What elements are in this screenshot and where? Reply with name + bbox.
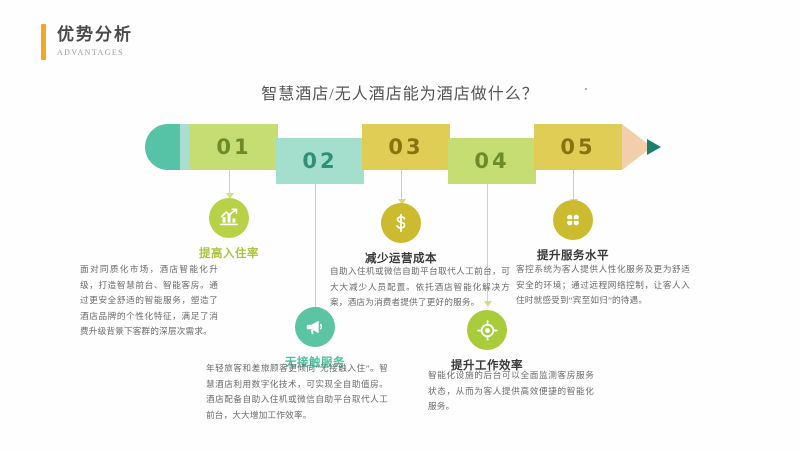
banner-number-01: 01 — [216, 135, 251, 159]
feature-body-contactless: 年轻旅客和差旅顾客更倾向“无接触入住”。智慧酒店利用数字化技术，可实现全自助值房… — [206, 361, 388, 423]
banner-segment-05[interactable]: 05 — [534, 124, 622, 170]
growth-chart-icon — [209, 198, 249, 238]
page-title: 智慧酒店/无人酒店能为酒店做什么？ — [0, 80, 800, 104]
header-accent-bar — [41, 24, 46, 60]
banner-segment-04[interactable]: 04 — [448, 138, 536, 184]
feature-label-service: 提升服务水平 — [530, 247, 616, 263]
banner-number-05: 05 — [560, 135, 595, 159]
feature-body-occupancy: 面对同质化市场，酒店智能化升级，打造智慧前台、智能客房。通过更安全舒适的智能服务… — [80, 262, 218, 340]
feature-body-service: 客控系统为客人提供人性化服务及更为舒适安全的环境；通过远程网络控制，让客人入住时… — [516, 262, 690, 309]
header-text-group: 优势分析 ADVANTAGES — [57, 24, 133, 57]
section-header: 优势分析 ADVANTAGES — [41, 24, 133, 60]
banner-number-04: 04 — [474, 149, 509, 173]
feature-efficiency: 提升工作效率 — [444, 310, 530, 373]
feature-body-efficiency: 智能化设施的后台可以全面监测客房服务状态，从而为客人提供高效便捷的智能化服务。 — [428, 368, 594, 415]
feature-label-occupancy: 提高入住率 — [186, 245, 272, 261]
feature-body-cost: 自助入住机或微信自助平台取代人工前台，可大大减少人员配置。依托酒店智能化解决方案… — [330, 264, 510, 311]
banner-number-02: 02 — [302, 149, 337, 173]
slide-root: 优势分析 ADVANTAGES 智慧酒店/无人酒店能为酒店做什么？ 01 02 … — [0, 0, 800, 450]
banner-segment-03[interactable]: 03 — [362, 124, 450, 170]
banner-arrow-tip-icon — [647, 139, 661, 155]
dollar-icon — [381, 203, 421, 243]
title-decoration-dot — [585, 88, 587, 90]
header-title-en: ADVANTAGES — [57, 48, 133, 57]
header-title-cn: 优势分析 — [57, 24, 133, 45]
megaphone-icon — [295, 307, 335, 347]
target-icon — [467, 310, 507, 350]
connector-line-02 — [315, 184, 316, 308]
clover-icon — [553, 200, 593, 240]
feature-cost: 减少运营成本 — [358, 203, 444, 266]
connector-line-03 — [401, 170, 402, 200]
banner-segment-02[interactable]: 02 — [276, 138, 364, 184]
feature-occupancy: 提高入住率 — [186, 198, 272, 261]
feature-service: 提升服务水平 — [530, 200, 616, 263]
banner-segment-01[interactable]: 01 — [190, 124, 278, 170]
process-banner: 01 02 03 04 05 — [140, 118, 670, 178]
banner-number-03: 03 — [388, 135, 423, 159]
connector-line-01 — [229, 170, 230, 194]
connector-line-05 — [573, 170, 574, 200]
